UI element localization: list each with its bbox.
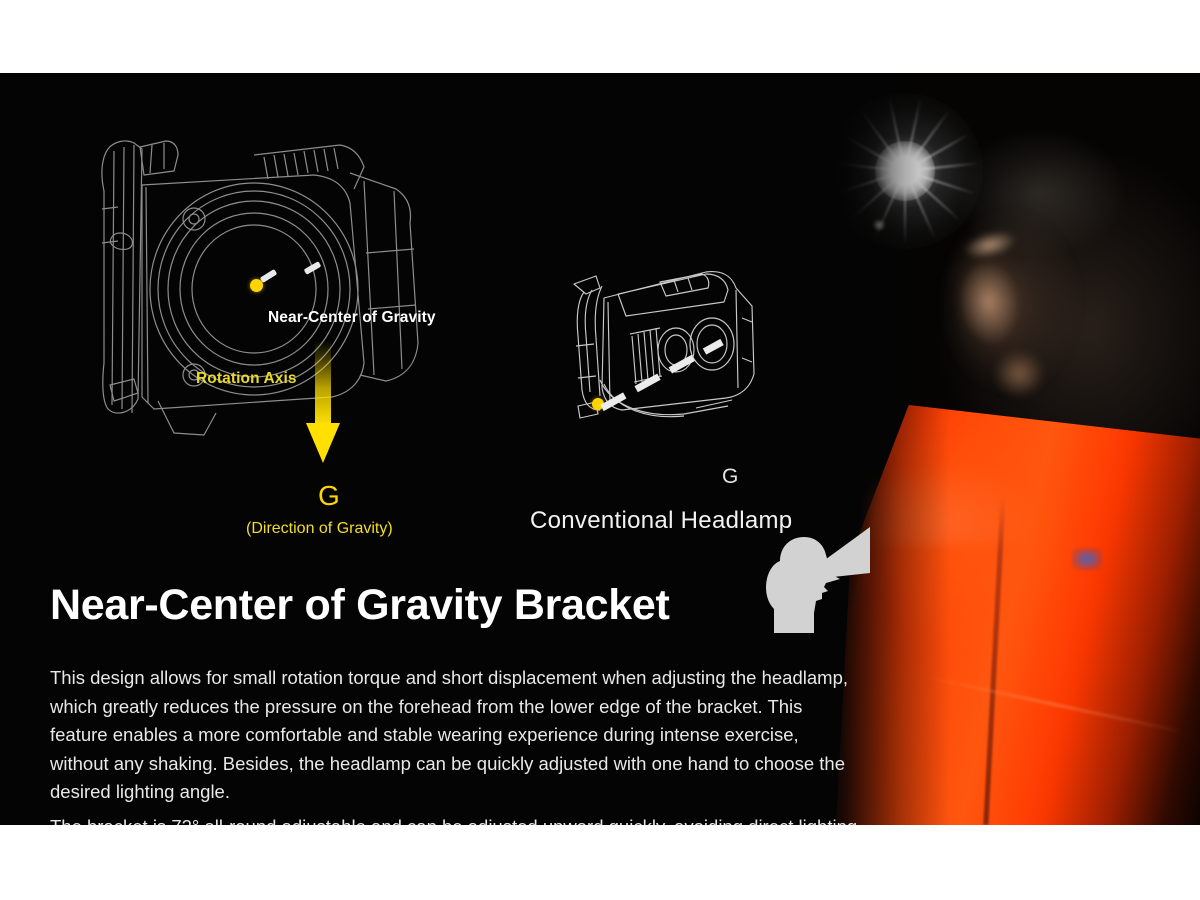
bracket-wireframe-diagram (78, 113, 428, 443)
head-beam-icon (752, 525, 872, 637)
label-near-center-of-gravity: Near-Center of Gravity (268, 309, 436, 327)
label-direction-of-gravity: (Direction of Gravity) (246, 520, 393, 538)
conventional-headlamp-wireframe (556, 258, 806, 443)
conventional-gravity-dashes (556, 258, 806, 443)
page-title: Near-Center of Gravity Bracket (50, 581, 670, 630)
product-feature-slide: Near-Center of Gravity Rotation Axis G (… (0, 0, 1200, 900)
head-with-beam-pictogram (752, 525, 872, 637)
gravity-arrow-shaft (315, 341, 331, 425)
body-paragraph-2: The bracket is 72° all-round adjustable … (50, 813, 862, 825)
label-gravity-symbol-right: G (722, 465, 738, 489)
label-gravity-symbol-left: G (318, 480, 340, 512)
bracket-wireframe-svg (78, 113, 428, 443)
body-paragraph-1: This design allows for small rotation to… (50, 664, 862, 807)
direction-of-gravity-arrow (306, 341, 340, 463)
jacket-brand-logo (1072, 548, 1102, 570)
black-stage: Near-Center of Gravity Rotation Axis G (… (0, 73, 1200, 825)
gravity-arrow-head (306, 423, 340, 463)
label-rotation-axis: Rotation Axis (196, 370, 297, 388)
runner-chin-highlight (986, 345, 1060, 417)
